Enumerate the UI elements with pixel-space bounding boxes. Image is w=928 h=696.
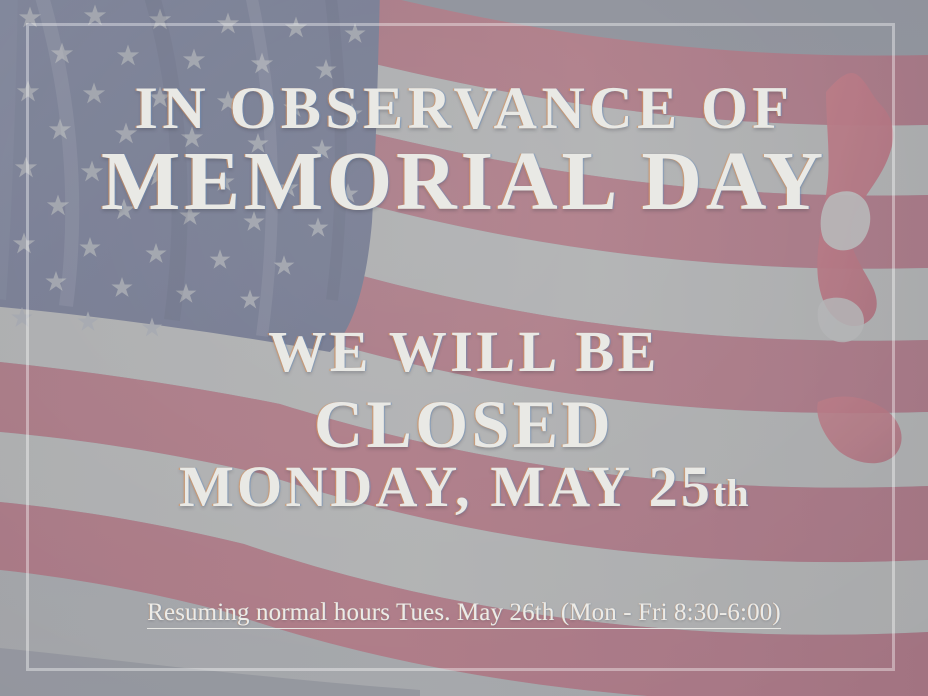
notice-we-will-be: WE WILL BE (0, 323, 928, 381)
closure-date-main: MONDAY, MAY 25 (179, 454, 713, 519)
notice-closed: CLOSED (0, 390, 928, 458)
headline-observance: IN OBSERVANCE OF (0, 78, 928, 138)
footer-resuming-hours: Resuming normal hours Tues. May 26th (Mo… (0, 600, 928, 625)
footer-resuming-hours-text: Resuming normal hours Tues. May 26th (Mo… (147, 599, 781, 629)
closure-date-suffix: th (713, 471, 749, 515)
notice-closure-date: MONDAY, MAY 25th (0, 458, 928, 516)
headline-memorial-day: MEMORIAL DAY (0, 140, 928, 224)
memorial-day-closure-poster: IN OBSERVANCE OF MEMORIAL DAY WE WILL BE… (0, 0, 928, 696)
poster-text-content: IN OBSERVANCE OF MEMORIAL DAY WE WILL BE… (0, 0, 928, 696)
